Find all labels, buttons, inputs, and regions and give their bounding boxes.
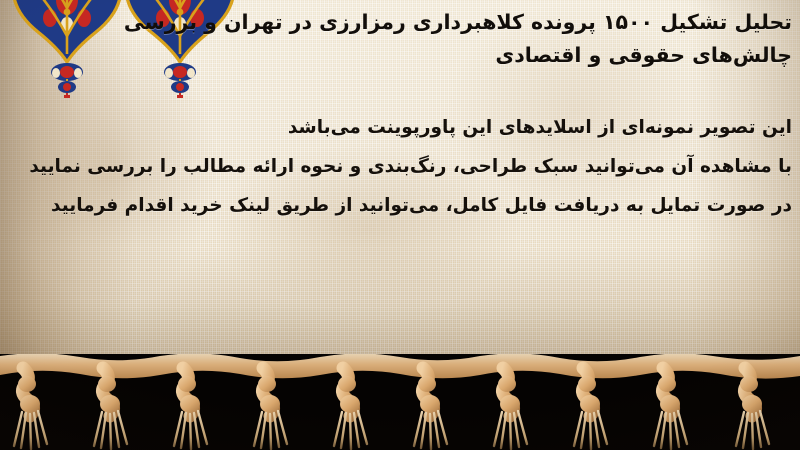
slide-body-line-3: در صورت تمایل به دریافت فایل کامل، می‌تو…	[0, 186, 792, 225]
carpet-fringe-tassels	[0, 354, 800, 450]
slide-canvas: تحلیل تشکیل ۱۵۰۰ پرونده کلاهبرداری رمزار…	[0, 0, 800, 450]
slide-body: این تصویر نمونه‌ای از اسلایدهای این پاور…	[0, 108, 792, 225]
slide-body-line-1: این تصویر نمونه‌ای از اسلایدهای این پاور…	[0, 108, 792, 147]
slide-title-line-2: چالش‌های حقوقی و اقتصادی	[0, 39, 792, 72]
slide-title: تحلیل تشکیل ۱۵۰۰ پرونده کلاهبرداری رمزار…	[0, 6, 792, 72]
slide-body-line-2: با مشاهده آن می‌توانید سبک طراحی، رنگ‌بن…	[0, 147, 792, 186]
slide-title-line-1: تحلیل تشکیل ۱۵۰۰ پرونده کلاهبرداری رمزار…	[0, 6, 792, 39]
